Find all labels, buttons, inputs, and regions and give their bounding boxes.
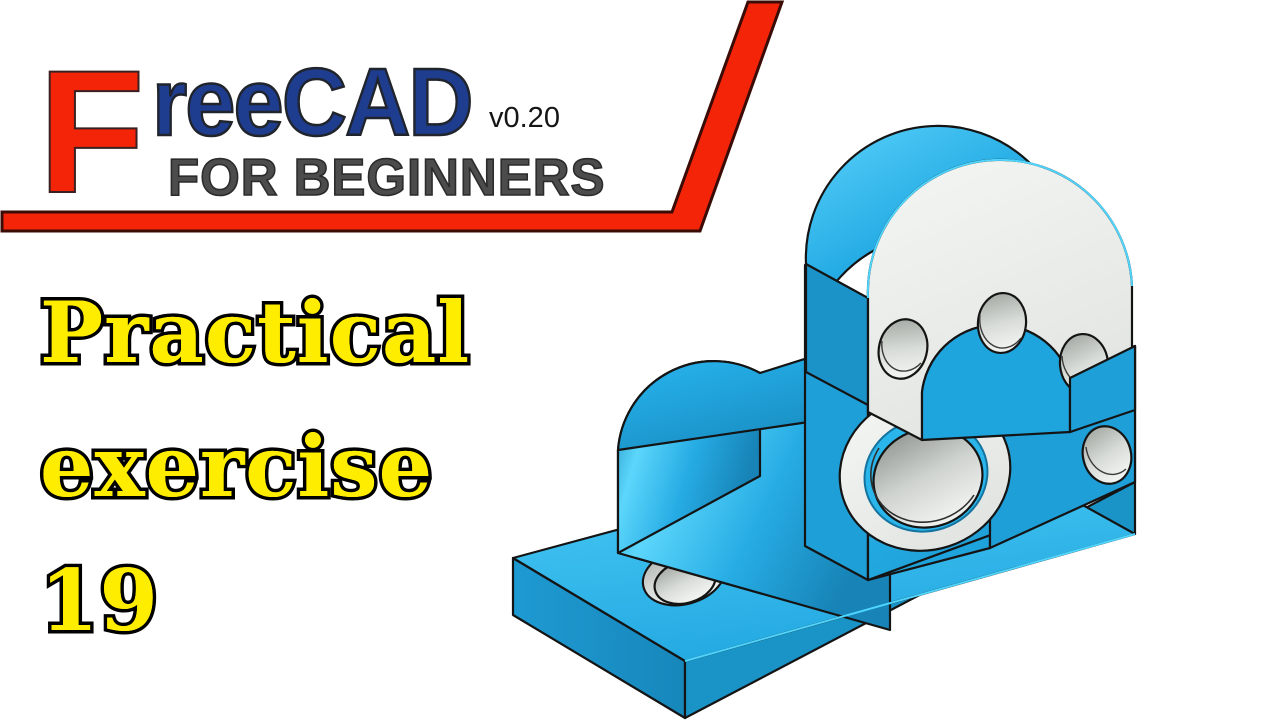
model-geometry [513, 126, 1137, 718]
logo-wordmark: reeCAD [152, 55, 472, 151]
headline-line-3: 19 19 [40, 551, 159, 650]
headline-line-3-fill: 19 [40, 551, 159, 650]
headline-line-1-fill: Practical [40, 283, 470, 382]
logo-letter-f: F [38, 45, 139, 220]
thumbnail-canvas: F reeCAD v0.20 FOR BEGINNERS Practical P… [0, 0, 1280, 720]
headline-line-1: Practical Practical [40, 283, 470, 382]
headline-line-2-fill: exercise [40, 417, 433, 516]
cad-model-render [470, 110, 1280, 720]
headline-line-2: exercise exercise [40, 417, 433, 516]
